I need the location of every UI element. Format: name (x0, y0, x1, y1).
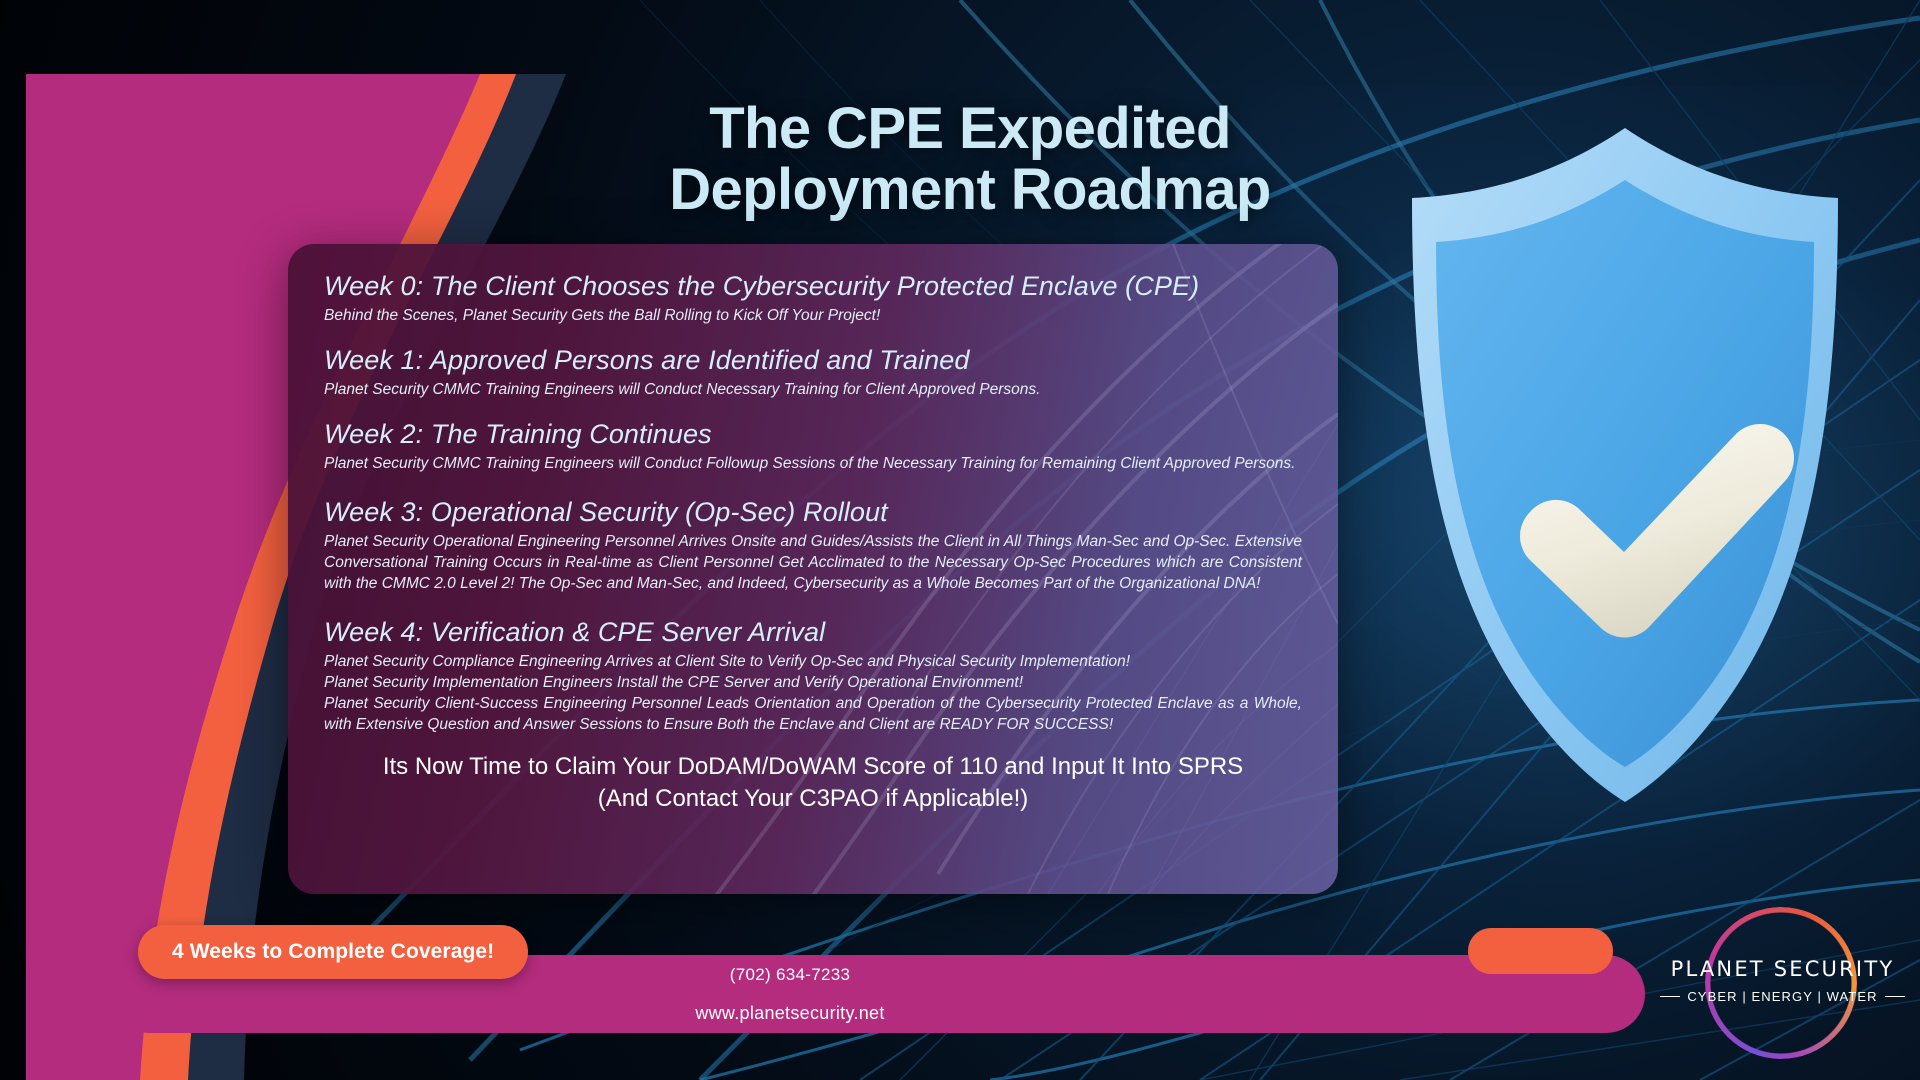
title-line-1: The CPE Expedited (709, 96, 1231, 161)
coverage-badge-label: 4 Weeks to Complete Coverage! (172, 940, 494, 964)
coverage-badge: 4 Weeks to Complete Coverage! (138, 925, 528, 979)
week-heading: Week 3: Operational Security (Op-Sec) Ro… (324, 496, 1302, 529)
week-block-3: Week 3: Operational Security (Op-Sec) Ro… (324, 496, 1302, 594)
logo-tagline-row: CYBER | ENERGY | WATER (1660, 989, 1905, 1004)
page-title: The CPE Expedited Deployment Roadmap (560, 98, 1380, 221)
title-line-2: Deployment Roadmap (560, 159, 1380, 220)
poster-canvas: The CPE Expedited Deployment Roadmap (0, 0, 1920, 1080)
week-body-line: Planet Security CMMC Training Engineers … (324, 379, 1302, 400)
week-block-0: Week 0: The Client Chooses the Cybersecu… (324, 270, 1302, 326)
week-body: Planet Security Compliance Engineering A… (324, 651, 1302, 735)
footer-contact: (702) 634-7233 www.planetsecurity.net (560, 962, 1020, 1027)
week-body-line: Behind the Scenes, Planet Security Gets … (324, 305, 1302, 326)
week-body-line: Planet Security Operational Engineering … (324, 531, 1302, 594)
logo-tagline: CYBER | ENERGY | WATER (1687, 989, 1877, 1004)
week-body-line: Planet Security Compliance Engineering A… (324, 651, 1302, 672)
phone-number[interactable]: (702) 634-7233 (560, 962, 1020, 988)
week-body: Planet Security CMMC Training Engineers … (324, 453, 1302, 474)
roadmap-panel: Week 0: The Client Chooses the Cybersecu… (288, 244, 1338, 894)
week-heading: Week 1: Approved Persons are Identified … (324, 344, 1302, 377)
week-body: Behind the Scenes, Planet Security Gets … (324, 305, 1302, 326)
closing-line-2: (And Contact Your C3PAO if Applicable!) (324, 783, 1302, 814)
week-block-1: Week 1: Approved Persons are Identified … (324, 344, 1302, 400)
website-url[interactable]: www.planetsecurity.net (560, 1000, 1020, 1027)
footer-accent-pill (1468, 928, 1613, 974)
week-heading: Week 4: Verification & CPE Server Arriva… (324, 616, 1302, 649)
week-body: Planet Security Operational Engineering … (324, 531, 1302, 594)
week-block-2: Week 2: The Training Continues Planet Se… (324, 418, 1302, 474)
logo-divider-right (1885, 996, 1905, 998)
logo-ring-icon (1705, 907, 1857, 1059)
closing-callout: Its Now Time to Claim Your DoDAM/DoWAM S… (324, 751, 1302, 813)
closing-line-1: Its Now Time to Claim Your DoDAM/DoWAM S… (324, 751, 1302, 782)
week-heading: Week 0: The Client Chooses the Cybersecu… (324, 270, 1302, 303)
logo-divider-left (1660, 996, 1680, 998)
shield-check-icon (1390, 120, 1860, 810)
week-block-4: Week 4: Verification & CPE Server Arriva… (324, 616, 1302, 735)
planet-security-logo: PLANET SECURITY CYBER | ENERGY | WATER (1660, 905, 1905, 1065)
logo-brand-name: PLANET SECURITY (1660, 957, 1905, 981)
week-body-line: Planet Security Client-Success Engineeri… (324, 693, 1302, 735)
week-body: Planet Security CMMC Training Engineers … (324, 379, 1302, 400)
week-body-line: Planet Security Implementation Engineers… (324, 672, 1302, 693)
week-heading: Week 2: The Training Continues (324, 418, 1302, 451)
week-body-line: Planet Security CMMC Training Engineers … (324, 453, 1302, 474)
